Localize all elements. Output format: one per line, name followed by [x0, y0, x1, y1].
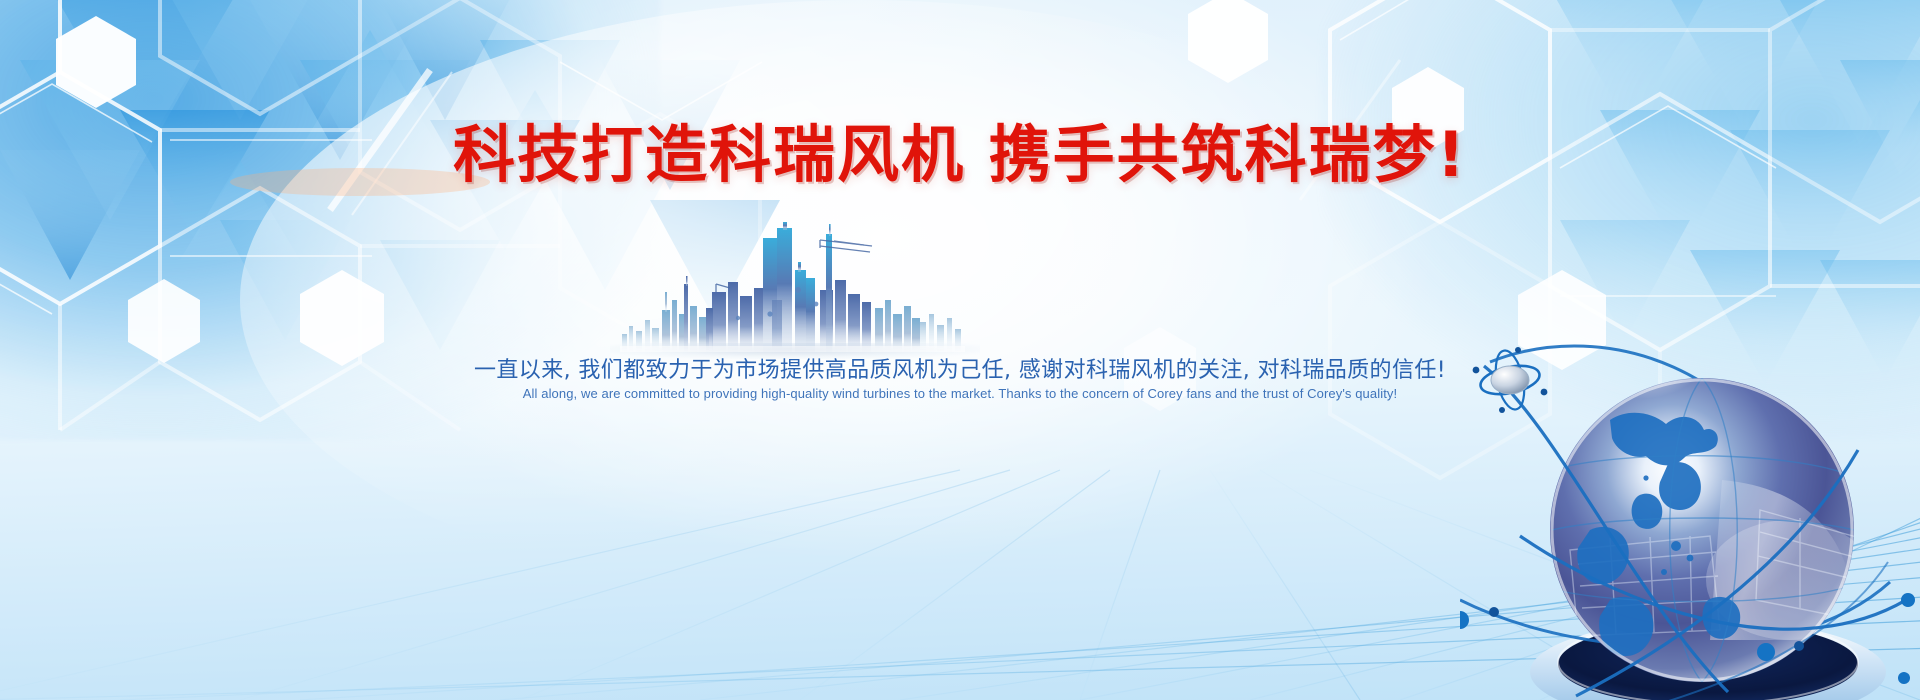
- city-skyline-graphic: [620, 222, 965, 352]
- atom-icon: [1473, 347, 1548, 413]
- globe-graphic: [1460, 300, 1920, 700]
- banner-headline: 科技打造科瑞风机 携手共筑科瑞梦!: [0, 122, 1920, 187]
- construction-crane: [716, 240, 872, 292]
- promo-banner: 科技打造科瑞风机 携手共筑科瑞梦! 一直以来, 我们都致力于为市场提供高品质风机…: [0, 0, 1920, 700]
